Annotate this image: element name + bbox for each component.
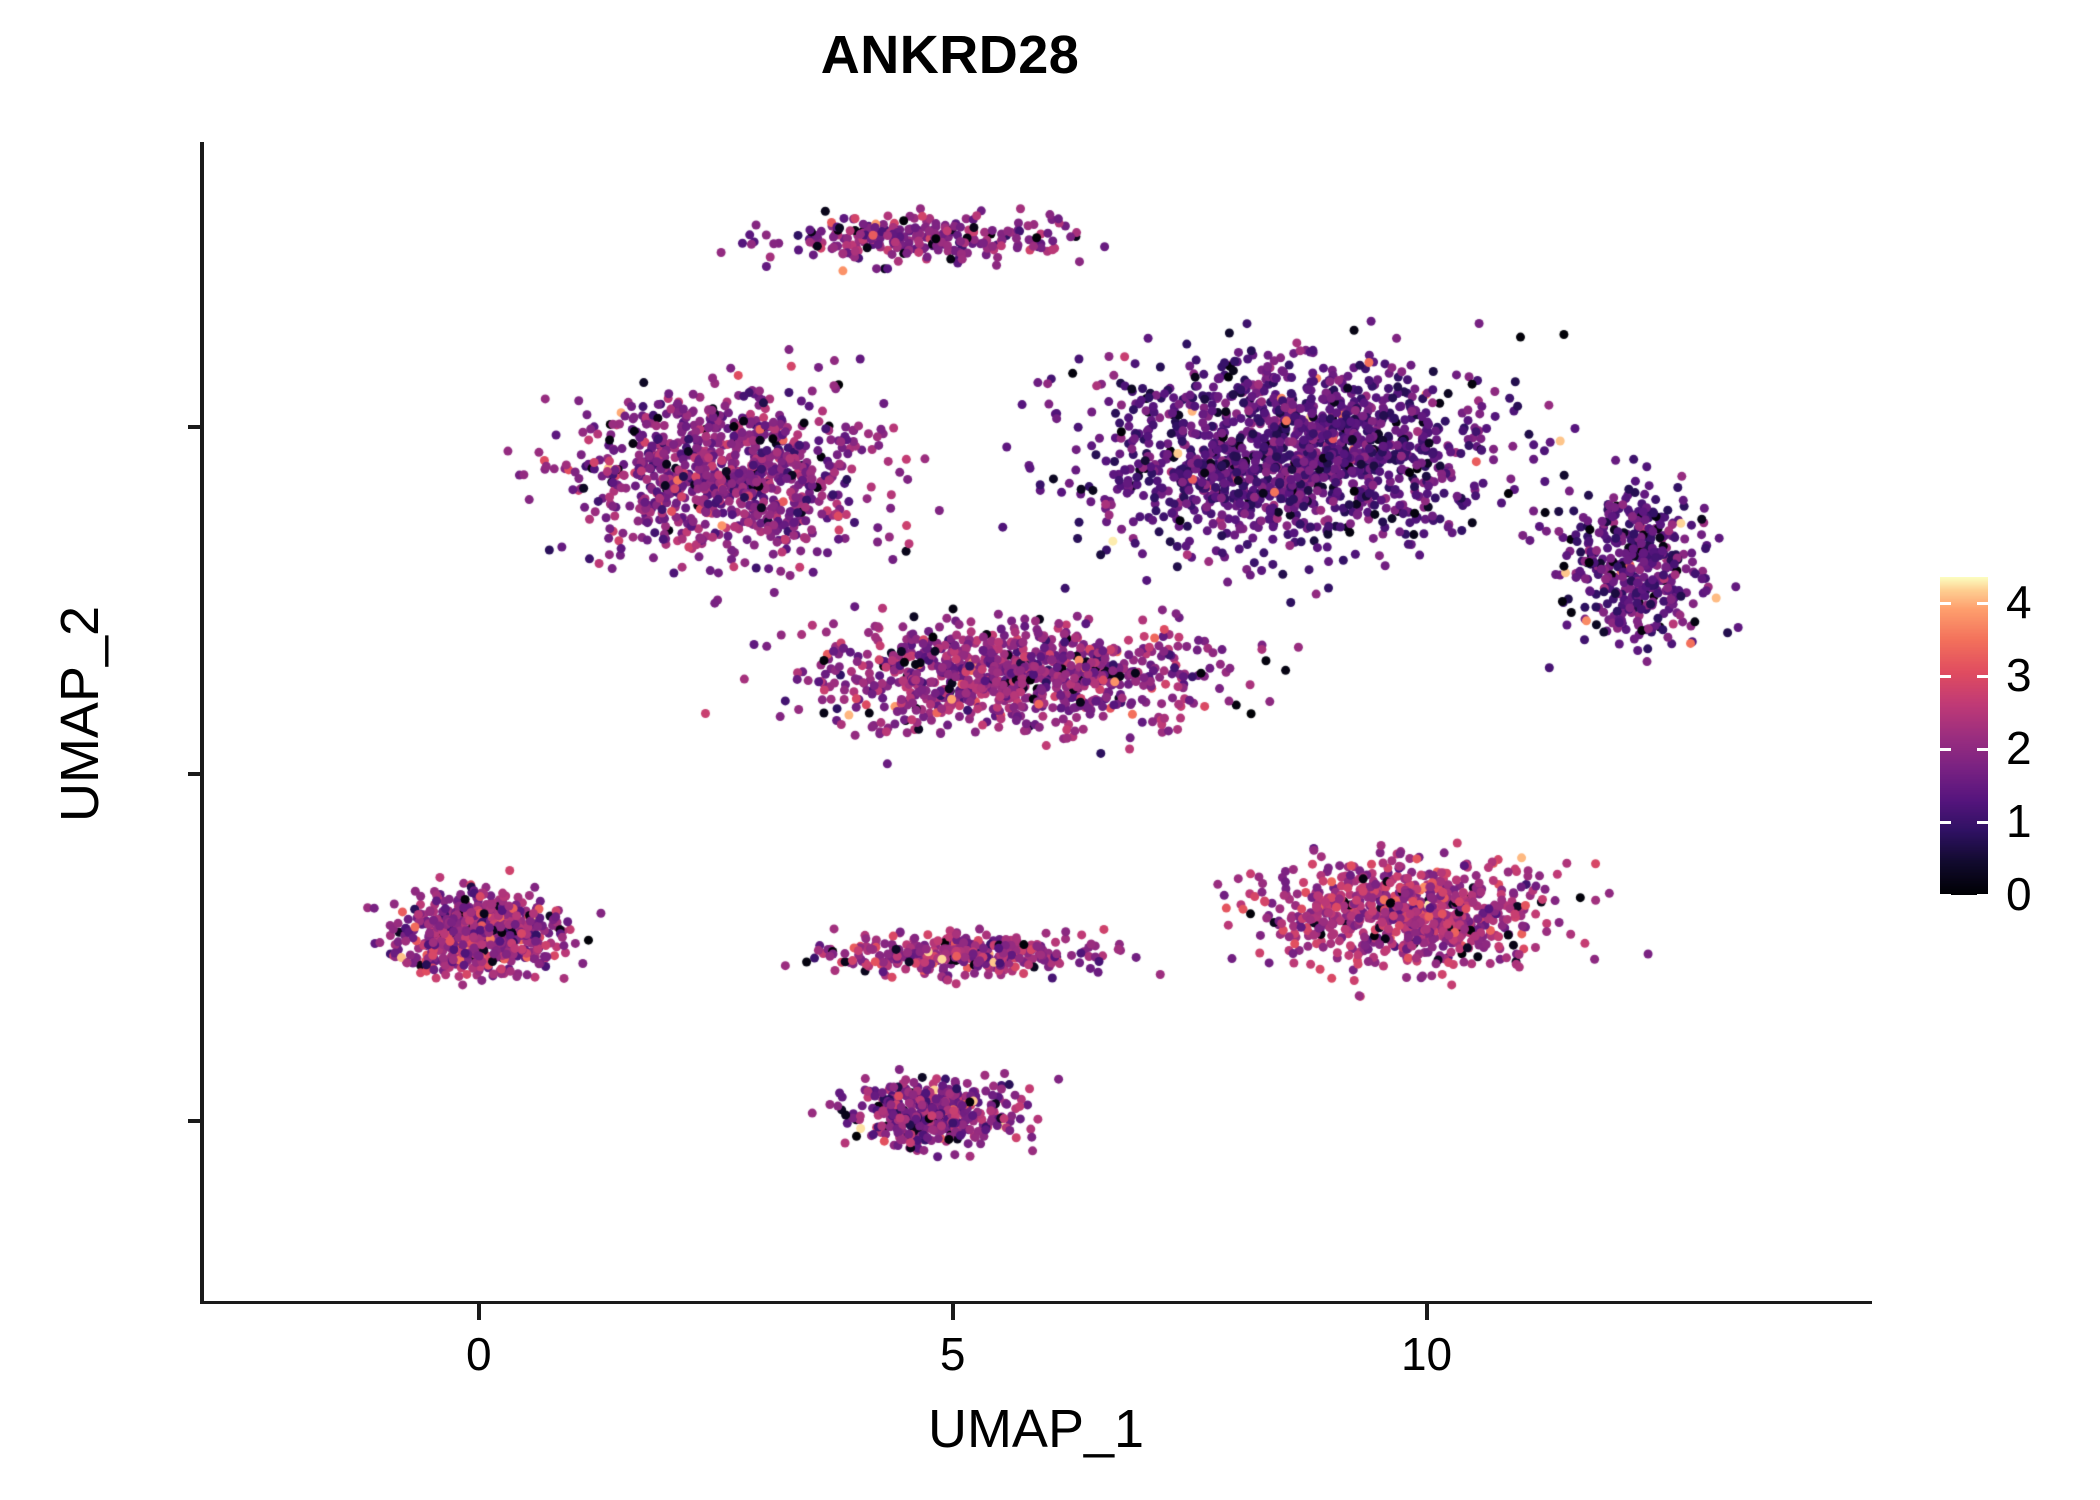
colorbar-tick-mark bbox=[1940, 894, 1951, 897]
page-title: ANKRD28 bbox=[0, 24, 1900, 86]
colorbar-tick-mark bbox=[1940, 821, 1951, 824]
y-tick-mark bbox=[188, 1119, 204, 1123]
colorbar-tick-mark bbox=[1977, 748, 1988, 751]
colorbar-tick-label: 0 bbox=[2006, 871, 2032, 917]
colorbar-tick-label: 4 bbox=[2006, 579, 2032, 625]
x-tick-label: 10 bbox=[1347, 1327, 1507, 1381]
scatter-points-layer bbox=[204, 142, 1872, 1301]
y-axis-title: UMAP_2 bbox=[49, 134, 111, 1294]
x-tick-mark bbox=[477, 1304, 481, 1320]
colorbar-tick-mark bbox=[1977, 675, 1988, 678]
scatter-plot-panel bbox=[204, 142, 1872, 1301]
y-tick-mark bbox=[188, 425, 204, 429]
colorbar-tick-mark bbox=[1940, 675, 1951, 678]
colorbar-tick-mark bbox=[1977, 602, 1988, 605]
figure-root: ANKRD28 05100510 UMAP_1 UMAP_2 01234 bbox=[0, 0, 2100, 1500]
x-tick-mark bbox=[1425, 1304, 1429, 1320]
colorbar-tick-label: 2 bbox=[2006, 725, 2032, 771]
x-tick-mark bbox=[951, 1304, 955, 1320]
x-axis-title: UMAP_1 bbox=[200, 1398, 1872, 1460]
colorbar-tick-mark bbox=[1977, 821, 1988, 824]
colorbar-ticks bbox=[1940, 577, 1988, 895]
x-tick-label: 0 bbox=[399, 1327, 559, 1381]
colorbar-tick-mark bbox=[1977, 894, 1988, 897]
colorbar-tick-mark bbox=[1940, 748, 1951, 751]
y-tick-mark bbox=[188, 772, 204, 776]
x-tick-label: 5 bbox=[873, 1327, 1033, 1381]
colorbar-tick-label: 1 bbox=[2006, 798, 2032, 844]
colorbar-tick-label: 3 bbox=[2006, 652, 2032, 698]
colorbar-tick-mark bbox=[1940, 602, 1951, 605]
